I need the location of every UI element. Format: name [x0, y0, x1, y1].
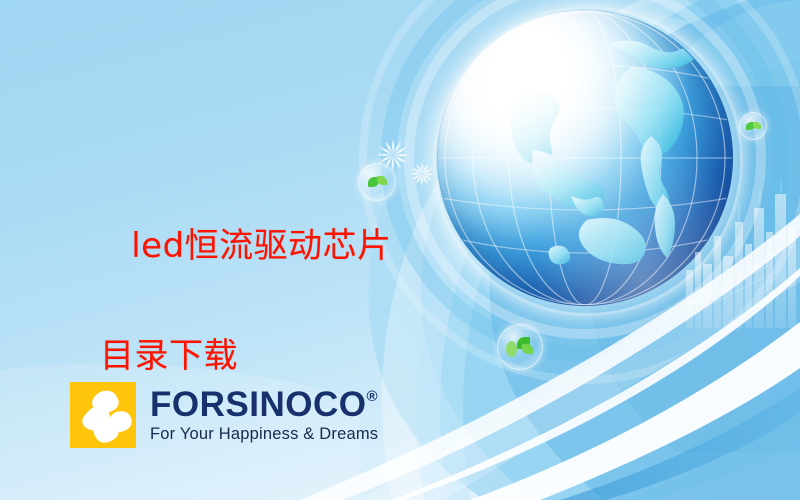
registered-mark: ®: [366, 389, 378, 404]
company-logo: FORSINOCO ® For Your Happiness & Dreams: [70, 382, 378, 448]
city-skyline-silhouette: [682, 178, 800, 328]
sparkle-icon: [411, 163, 433, 185]
headline-line-2: 目录下载: [100, 329, 392, 384]
headline-line-1: led恒流驱动芯片: [131, 226, 391, 266]
brand-tagline: For Your Happiness & Dreams: [150, 426, 378, 443]
leaf-icon: [522, 344, 533, 354]
logo-text-block: FORSINOCO ® For Your Happiness & Dreams: [150, 387, 378, 443]
leaf-icon: [506, 341, 517, 357]
brand-name: FORSINOCO: [150, 387, 366, 422]
bubble-with-leaf: [739, 112, 767, 140]
promo-banner: led恒流驱动芯片 目录下载 FORSINOCO ® For Your Happ…: [0, 0, 800, 500]
logo-pinwheel-icon: [70, 382, 136, 448]
bubble-with-leaf: [497, 324, 543, 370]
pinwheel-petals: [70, 382, 136, 448]
brand-wordmark: FORSINOCO ®: [150, 387, 378, 422]
leaf-icon: [753, 122, 761, 129]
